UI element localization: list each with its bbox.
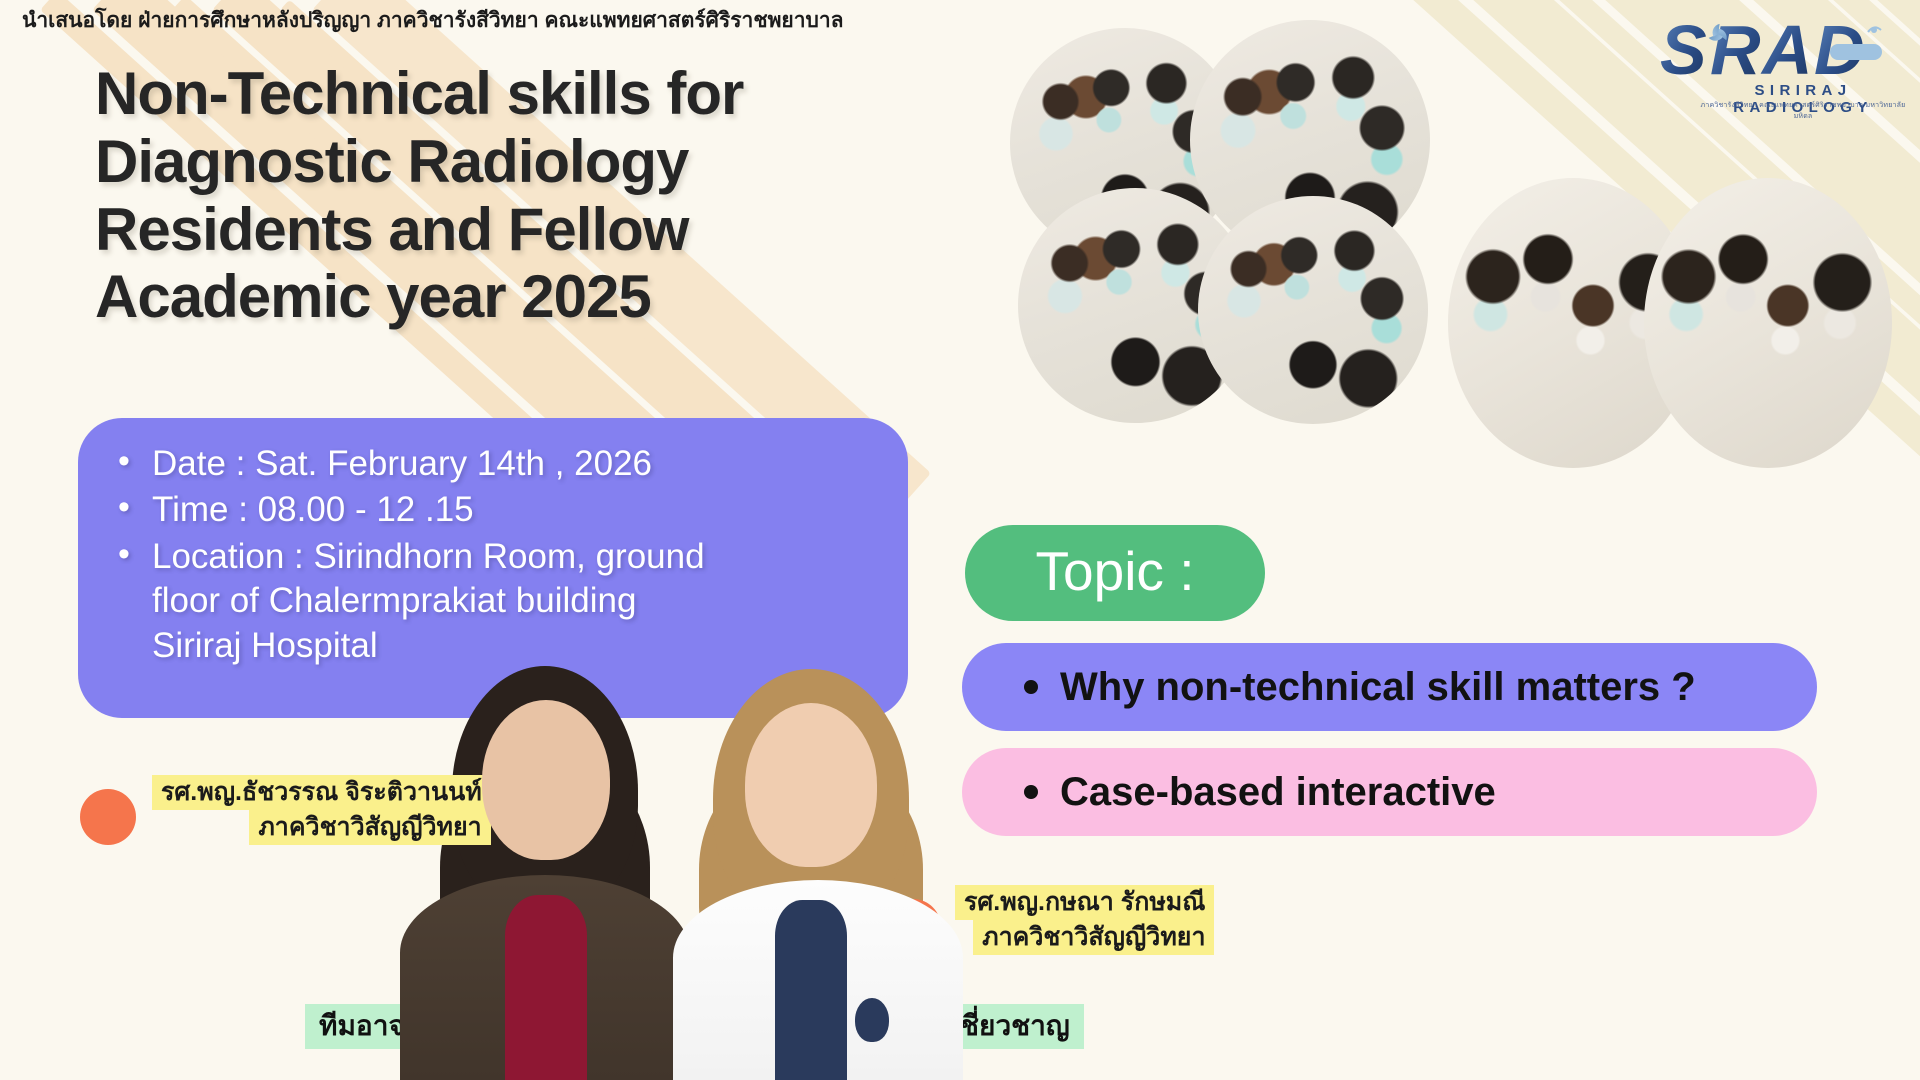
topic-row-2: Case-based interactive [962,748,1817,836]
title-line-4: Academic year 2025 [95,263,1015,331]
topic-label: Topic : [1036,539,1195,603]
photo-lobe [1644,178,1892,468]
photo-cluster-workshop [1448,178,1888,478]
presenter-photo-left [400,660,690,1080]
title-line-3: Residents and Fellow [95,196,1015,264]
info-item-time: Time : 08.00 - 12 .15 [108,488,878,532]
topic-row-1-label: Why non-technical skill matters ? [1060,665,1696,710]
topic-label-pill: Topic : [965,525,1265,621]
presented-by-text: นำเสนอโดย ฝ่ายการศึกษาหลังปริญญา ภาควิชา… [22,4,844,37]
sirad-wordmark-icon: S R A D [1658,14,1908,86]
info-item-date: Date : Sat. February 14th , 2026 [108,442,878,486]
speaker-department: ภาควิชาวิสัญญีวิทยา [973,920,1214,955]
photo-lobe [1198,196,1428,424]
page-title: Non-Technical skills for Diagnostic Radi… [95,60,1015,331]
presenter-photos [390,650,1010,1080]
logo-thai-subtitle: ภาควิชารังสีวิทยา คณะแพทยศาสตร์ศิริราชพย… [1698,100,1908,122]
info-item-location: Location : Sirindhorn Room, ground floor… [108,535,878,668]
bullet-icon [1024,680,1038,694]
speaker-name: รศ.พญ.กษณา รักษมณี [955,885,1214,920]
bullet-icon [1024,785,1038,799]
poster-canvas: นำเสนอโดย ฝ่ายการศึกษาหลังปริญญา ภาควิชา… [0,0,1920,1080]
speaker-name: รศ.พญ.ธัชวรรณ จิระติวานนท์ [152,775,491,810]
event-info-list: Date : Sat. February 14th , 2026 Time : … [108,442,878,668]
title-line-2: Diagnostic Radiology [95,128,1015,196]
speaker-dot-icon [80,789,136,845]
topic-row-2-label: Case-based interactive [1060,770,1496,815]
topic-row-1: Why non-technical skill matters ? [962,643,1817,731]
svg-text:A: A [1760,14,1813,86]
presenter-photo-right [665,665,965,1080]
speaker-tag-left-text: รศ.พญ.ธัชวรรณ จิระติวานนท์ ภาควิชาวิสัญญ… [152,775,491,845]
title-line-1: Non-Technical skills for [95,60,1015,128]
photo-cluster-students [1010,20,1430,420]
svg-text:S: S [1660,14,1707,86]
siriraj-radiology-logo: S R A D SIRIRAJ RADIOLOGY ภาควิชารังสีวิ… [1658,14,1908,112]
speaker-tag-right-text: รศ.พญ.กษณา รักษมณี ภาควิชาวิสัญญีวิทยา [955,885,1214,955]
speaker-department: ภาควิชาวิสัญญีวิทยา [249,810,490,845]
